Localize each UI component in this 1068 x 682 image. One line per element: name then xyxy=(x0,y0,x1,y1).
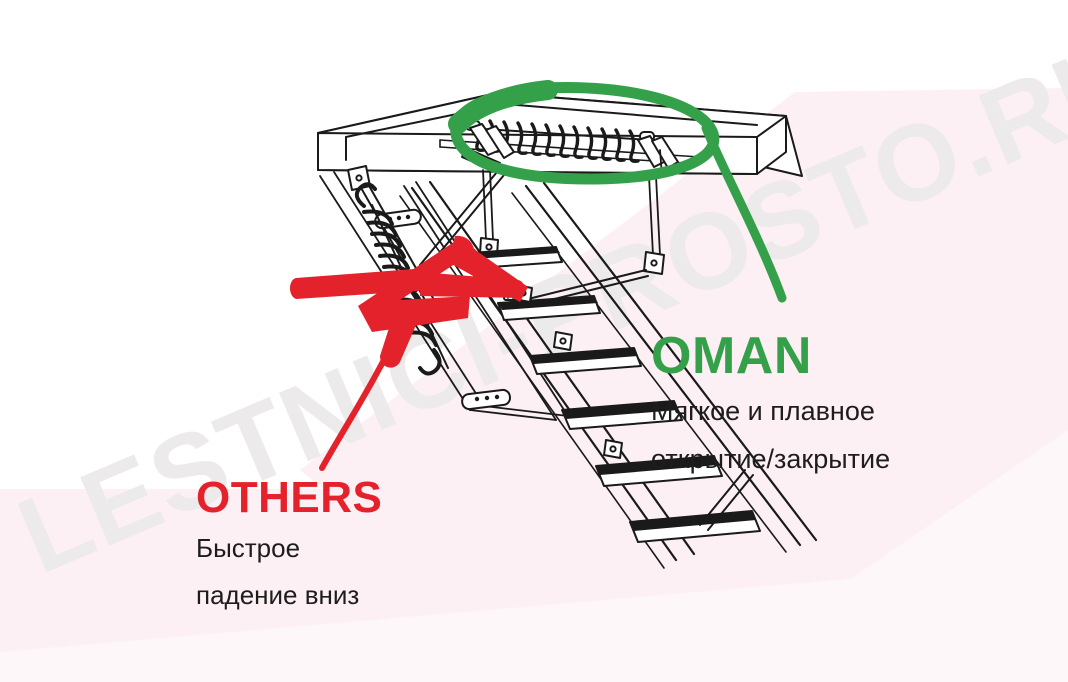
others-subtitle-line-1: Быстрое xyxy=(196,530,382,567)
others-subtitle-line-2: падение вниз xyxy=(196,577,382,614)
oman-callout: OMAN Мягкое и плавное открытие/закрытие xyxy=(651,330,890,479)
illustration-canvas: LESTNICI-PROSTO.RU xyxy=(0,0,1068,682)
others-title: OTHERS xyxy=(196,476,382,520)
others-callout: OTHERS Быстрое падение вниз xyxy=(196,476,382,614)
red-annotation xyxy=(0,0,1068,682)
red-leader-line xyxy=(322,352,388,468)
red-arrow-wing-left xyxy=(290,268,430,299)
oman-subtitle-line-1: Мягкое и плавное xyxy=(651,392,890,430)
oman-title: OMAN xyxy=(651,330,890,382)
oman-subtitle-line-2: открытие/закрытие xyxy=(651,440,890,478)
